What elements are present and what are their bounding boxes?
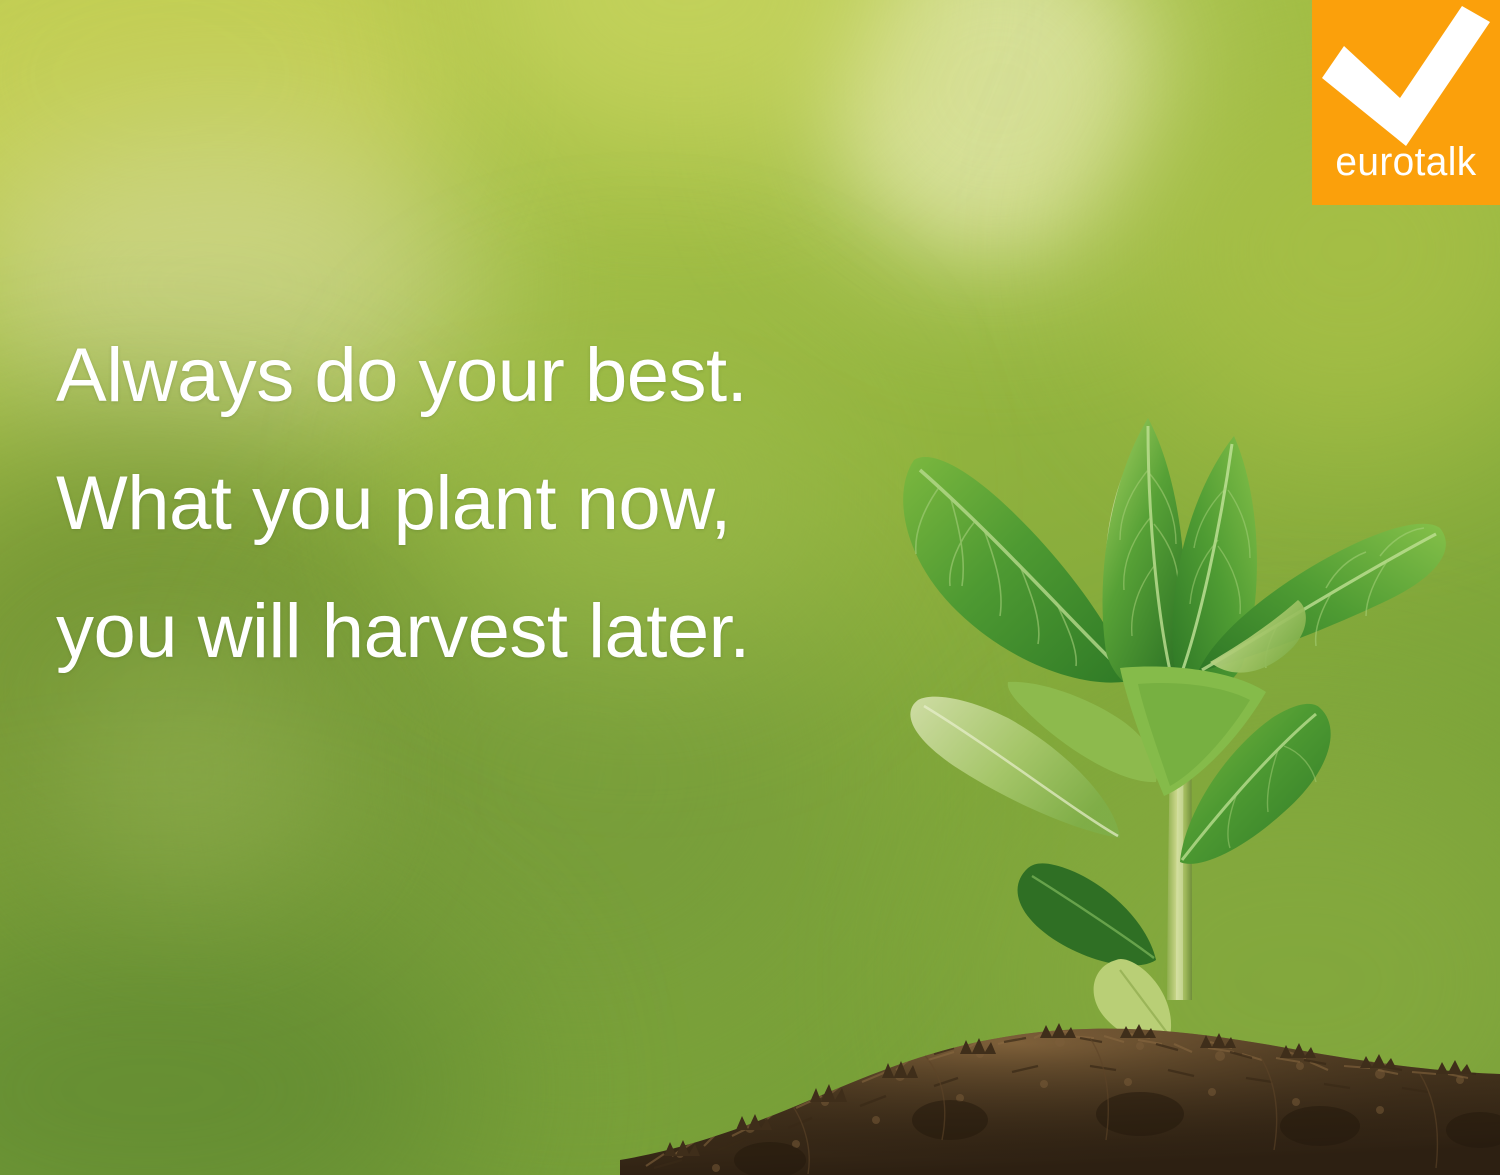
quote-card: Always do your best. What you plant now,… xyxy=(0,0,1500,1175)
quote-line-2: What you plant now, xyxy=(56,440,916,568)
quote-block: Always do your best. What you plant now,… xyxy=(56,312,916,696)
eurotalk-logo[interactable]: eurotalk xyxy=(1312,0,1500,205)
quote-line-3: you will harvest later. xyxy=(56,568,916,696)
quote-line-1: Always do your best. xyxy=(56,312,916,440)
soil-mound xyxy=(620,990,1500,1175)
checkmark-icon xyxy=(1320,6,1492,146)
eurotalk-wordmark: eurotalk xyxy=(1315,140,1497,185)
